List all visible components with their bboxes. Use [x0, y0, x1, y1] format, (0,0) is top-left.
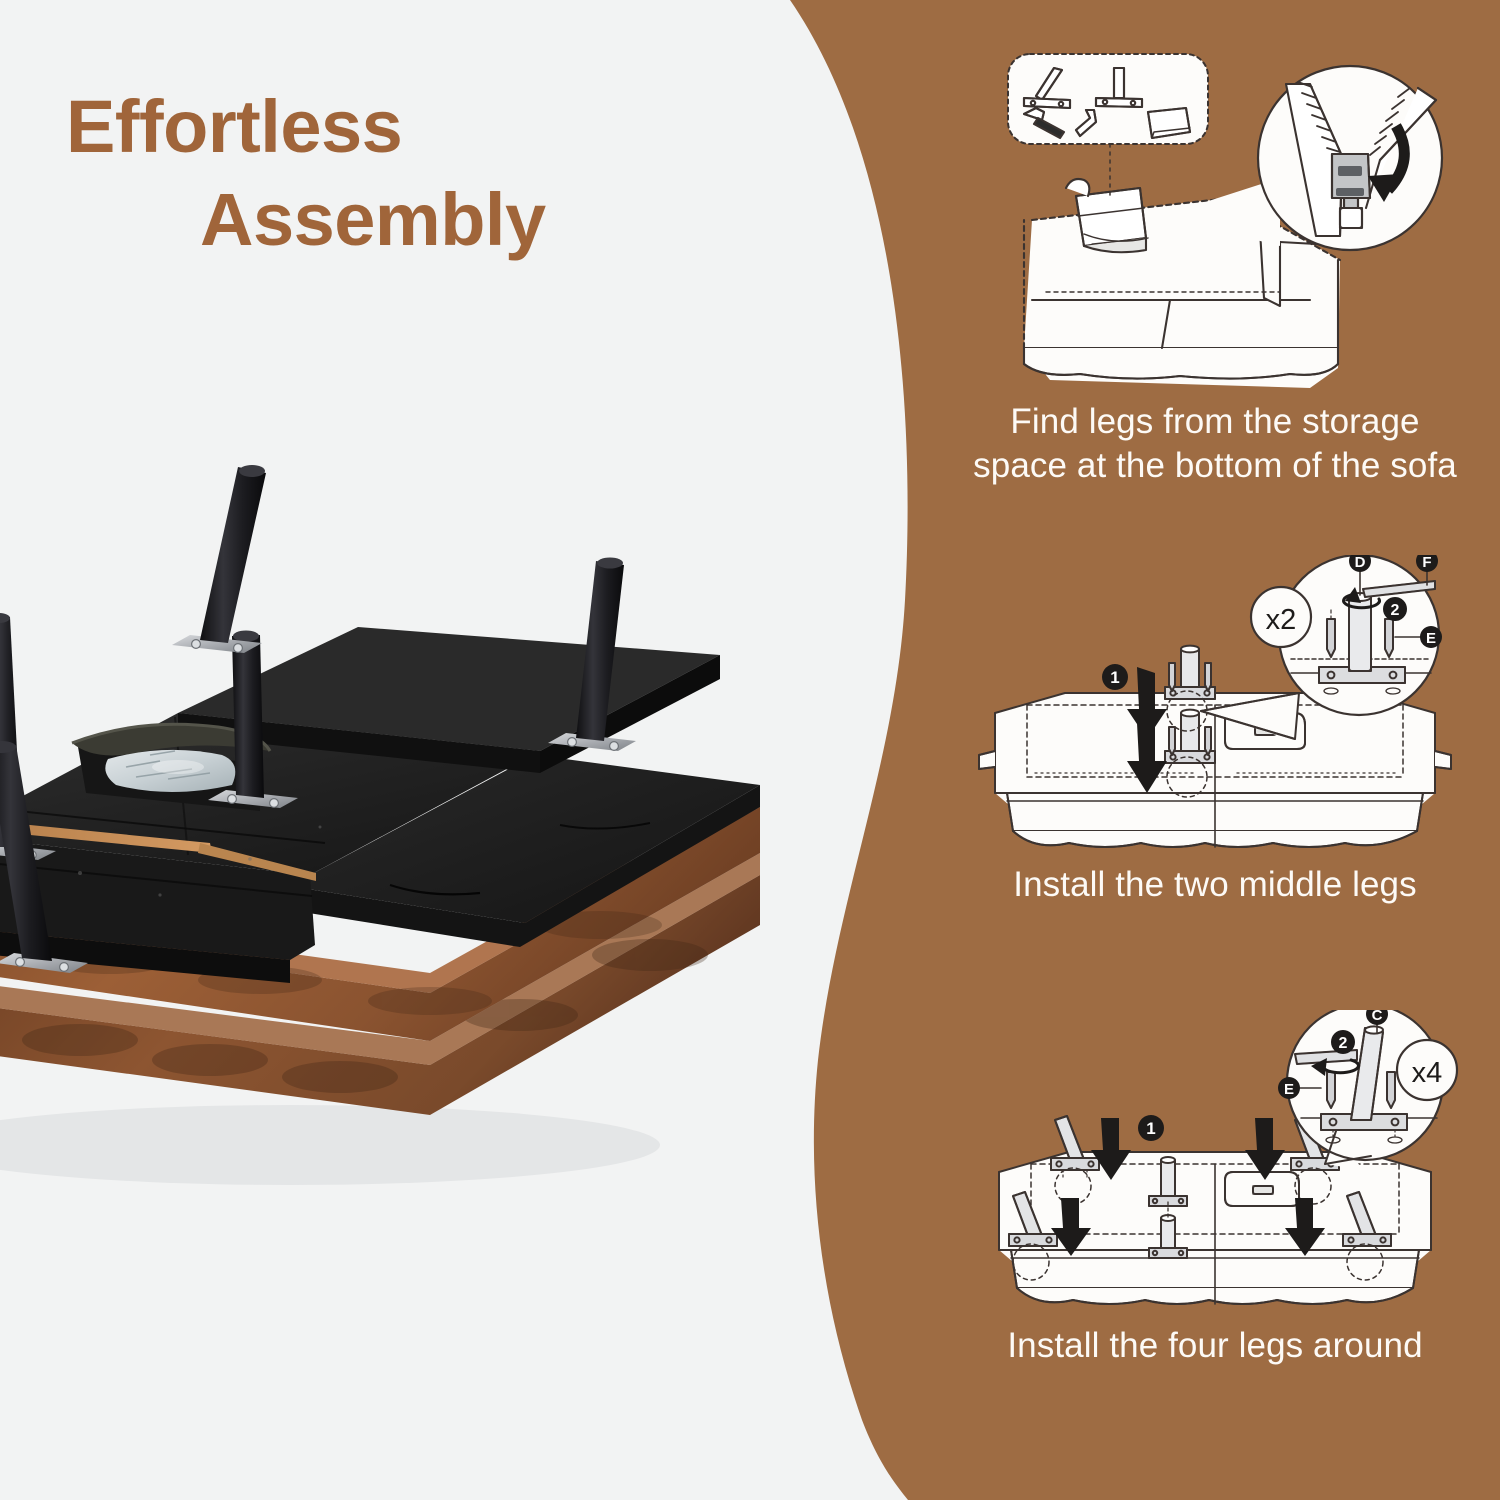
title-line-2: Assembly — [0, 173, 700, 266]
step-3-illustration: 1 — [965, 1010, 1465, 1310]
title-line-1: Effortless — [0, 80, 700, 173]
step-3-sequence-2: 2 — [1339, 1035, 1348, 1052]
step-2-caption-line-1: Install the two middle legs — [930, 863, 1500, 907]
step-2-label-F: F — [1422, 555, 1431, 571]
step-2-quantity-badge: x2 — [1266, 604, 1297, 636]
step-3-quantity-badge: x4 — [1412, 1057, 1443, 1089]
step-2-sequence-2: 2 — [1391, 602, 1400, 619]
assembly-steps: Find legs from the storage space at the … — [930, 0, 1500, 1500]
step-3-label-C: C — [1372, 1010, 1383, 1024]
step-2-illustration: 1 — [965, 555, 1465, 855]
step-2-sequence-1: 1 — [1110, 668, 1119, 687]
product-photo-folded-sofa — [0, 455, 840, 1215]
step-3-label-E: E — [1284, 1081, 1294, 1098]
step-1-caption-line-2: space at the bottom of the sofa — [930, 444, 1500, 488]
step-1: Find legs from the storage space at the … — [930, 48, 1500, 488]
step-2-label-D: D — [1355, 555, 1366, 571]
step-1-caption-line-1: Find legs from the storage — [930, 400, 1500, 444]
step-3: 1 — [930, 1010, 1500, 1368]
step-2: 1 — [930, 555, 1500, 907]
sofa-leg — [172, 465, 266, 653]
step-3-sequence-1: 1 — [1146, 1119, 1155, 1138]
page-title: Effortless Assembly — [0, 80, 700, 266]
step-3-caption: Install the four legs around — [930, 1324, 1500, 1368]
step-2-caption: Install the two middle legs — [930, 863, 1500, 907]
step-1-illustration — [980, 48, 1450, 388]
step-2-label-E: E — [1426, 630, 1436, 647]
infographic-root: Effortless Assembly — [0, 0, 1500, 1500]
step-3-caption-line-1: Install the four legs around — [930, 1324, 1500, 1368]
step-1-caption: Find legs from the storage space at the … — [930, 400, 1500, 488]
